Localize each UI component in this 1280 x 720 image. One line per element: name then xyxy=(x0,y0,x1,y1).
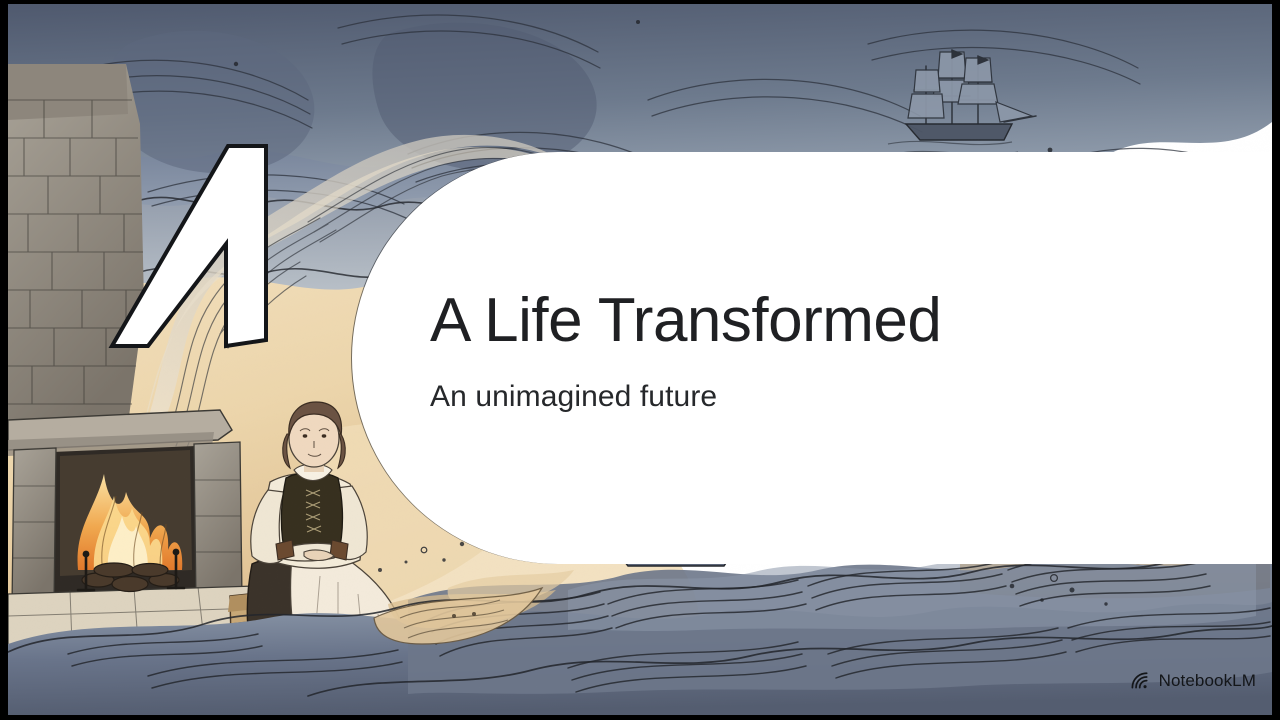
letterbox-top xyxy=(0,0,1280,4)
notebooklm-spiral-icon xyxy=(1130,670,1152,692)
notebooklm-brand: NotebookLM xyxy=(1130,670,1256,692)
slide-title: A Life Transformed xyxy=(430,288,1150,353)
letterbox-right xyxy=(1272,0,1280,720)
letterbox-bottom xyxy=(0,715,1280,720)
slide-text-block: A Life Transformed An unimagined future xyxy=(430,288,1150,415)
letterbox-left xyxy=(0,0,8,720)
notebooklm-wordmark: NotebookLM xyxy=(1159,671,1256,691)
slide-canvas: A Life Transformed An unimagined future … xyxy=(0,0,1280,720)
slide-subtitle: An unimagined future xyxy=(430,379,1150,415)
